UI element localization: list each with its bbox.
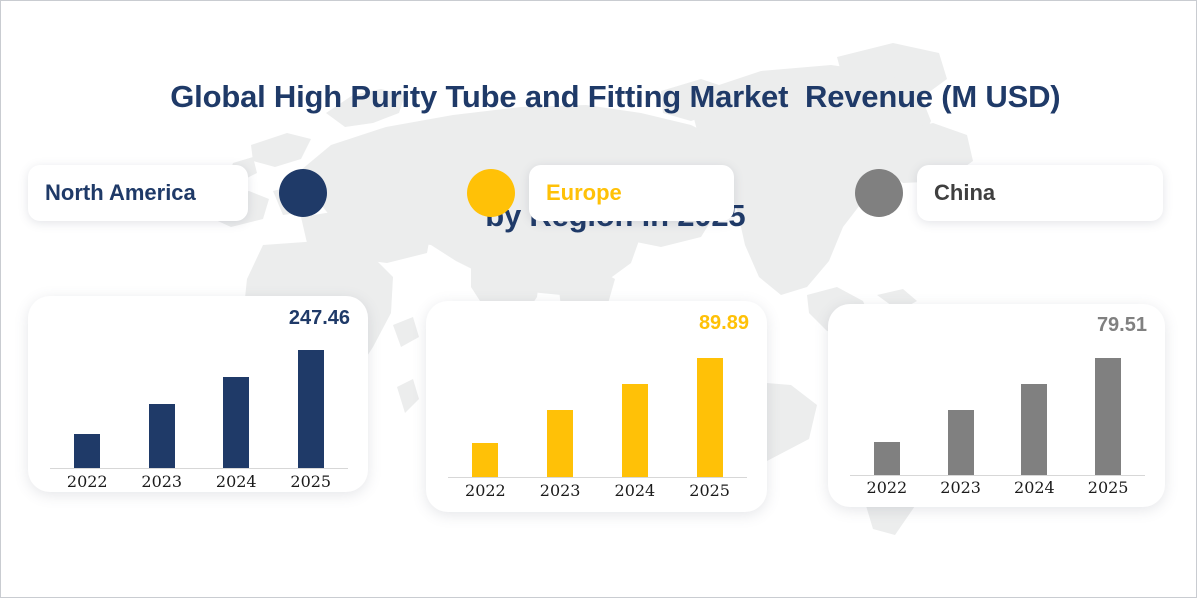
headline-value-europe: 89.89: [699, 313, 749, 333]
legend-item-north-america[interactable]: North America: [28, 165, 248, 221]
bar-column: [850, 346, 924, 475]
bar-2023: [149, 404, 175, 468]
chart-card-north-america: 247.46 2022 2023 2024 2025: [28, 296, 368, 492]
x-tick-label: 2024: [199, 472, 274, 491]
x-tick-label: 2023: [125, 472, 200, 491]
x-axis-china: 2022 2023 2024 2025: [850, 478, 1145, 497]
legend-item-europe[interactable]: Europe: [529, 165, 734, 221]
headline-value-north-america: 247.46: [289, 308, 350, 328]
x-axis-europe: 2022 2023 2024 2025: [448, 481, 747, 500]
x-tick-label: 2025: [1071, 478, 1145, 497]
x-tick-label: 2024: [598, 481, 673, 500]
bar-2025: [298, 350, 324, 468]
legend-label-europe: Europe: [546, 180, 622, 206]
x-tick-label: 2024: [998, 478, 1072, 497]
bar-2024: [1021, 384, 1047, 475]
legend-dot-china-icon: [855, 169, 903, 217]
x-tick-label: 2022: [850, 478, 924, 497]
bar-plot-europe: [448, 346, 747, 478]
bar-column: [125, 338, 200, 468]
legend-label-china: China: [934, 180, 995, 206]
bar-column: [50, 338, 125, 468]
x-tick-label: 2022: [50, 472, 125, 491]
page-title: Global High Purity Tube and Fitting Mark…: [1, 37, 1196, 275]
chart-card-europe: 89.89 2022 2023 2024 2025: [426, 301, 767, 512]
bar-plot-china: [850, 346, 1145, 476]
legend-dot-europe-icon: [467, 169, 515, 217]
bar-2022: [74, 434, 100, 468]
bar-2023: [948, 410, 974, 475]
x-tick-label: 2022: [448, 481, 523, 500]
bar-column: [998, 346, 1072, 475]
bar-2025: [697, 358, 723, 477]
bar-column: [598, 346, 673, 477]
bar-2023: [547, 410, 573, 477]
bar-plot-north-america: [50, 338, 348, 469]
legend-label-north-america: North America: [45, 180, 196, 206]
page-title-line-1: Global High Purity Tube and Fitting Mark…: [170, 79, 1060, 114]
x-tick-label: 2023: [924, 478, 998, 497]
headline-value-china: 79.51: [1097, 315, 1147, 335]
bar-column: [448, 346, 523, 477]
x-tick-label: 2025: [274, 472, 349, 491]
chart-card-china: 79.51 2022 2023 2024 2025: [828, 304, 1165, 507]
x-tick-label: 2025: [672, 481, 747, 500]
bar-column: [924, 346, 998, 475]
infographic-page: Global High Purity Tube and Fitting Mark…: [0, 0, 1197, 598]
bar-column: [199, 338, 274, 468]
bar-2024: [622, 384, 648, 477]
bar-2022: [472, 443, 498, 477]
x-tick-label: 2023: [523, 481, 598, 500]
x-axis-north-america: 2022 2023 2024 2025: [50, 472, 348, 491]
bar-2022: [874, 442, 900, 475]
bar-column: [274, 338, 349, 468]
bar-column: [523, 346, 598, 477]
legend-dot-north-america-icon: [279, 169, 327, 217]
bar-column: [672, 346, 747, 477]
legend-item-china[interactable]: China: [917, 165, 1163, 221]
bar-2024: [223, 377, 249, 468]
bar-2025: [1095, 358, 1121, 475]
bar-column: [1071, 346, 1145, 475]
